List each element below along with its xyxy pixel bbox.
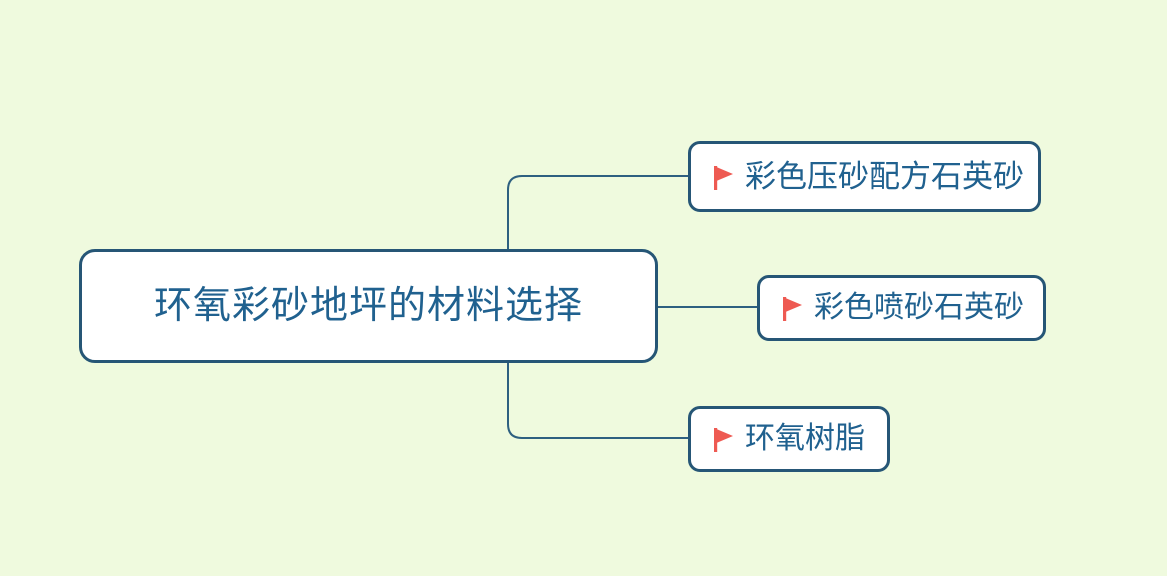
connector-root-to-child-3 — [508, 363, 688, 438]
mindmap-canvas: 环氧彩砂地坪的材料选择 彩色压砂配方石英砂 彩色喷砂石英砂 — [0, 0, 1167, 576]
child-node-caise-pensha[interactable]: 彩色喷砂石英砂 — [757, 275, 1046, 341]
child-node-2-content: 彩色喷砂石英砂 — [760, 293, 1024, 323]
child-node-1-label: 彩色压砂配方石英砂 — [745, 161, 1024, 192]
connector-root-to-child-1 — [508, 176, 688, 250]
child-node-3-label: 环氧树脂 — [745, 424, 865, 454]
child-node-1-content: 彩色压砂配方石英砂 — [691, 161, 1024, 192]
flag-triangle-icon — [711, 165, 735, 191]
root-node[interactable]: 环氧彩砂地坪的材料选择 — [79, 249, 658, 363]
flag-triangle-icon — [780, 296, 804, 322]
child-node-huanyang-shuzhi[interactable]: 环氧树脂 — [688, 406, 890, 472]
child-node-caise-yasha[interactable]: 彩色压砂配方石英砂 — [688, 141, 1041, 212]
child-node-2-label: 彩色喷砂石英砂 — [814, 293, 1024, 323]
child-node-3-content: 环氧树脂 — [691, 424, 865, 454]
root-node-label: 环氧彩砂地坪的材料选择 — [154, 287, 583, 325]
flag-triangle-icon — [711, 427, 735, 453]
